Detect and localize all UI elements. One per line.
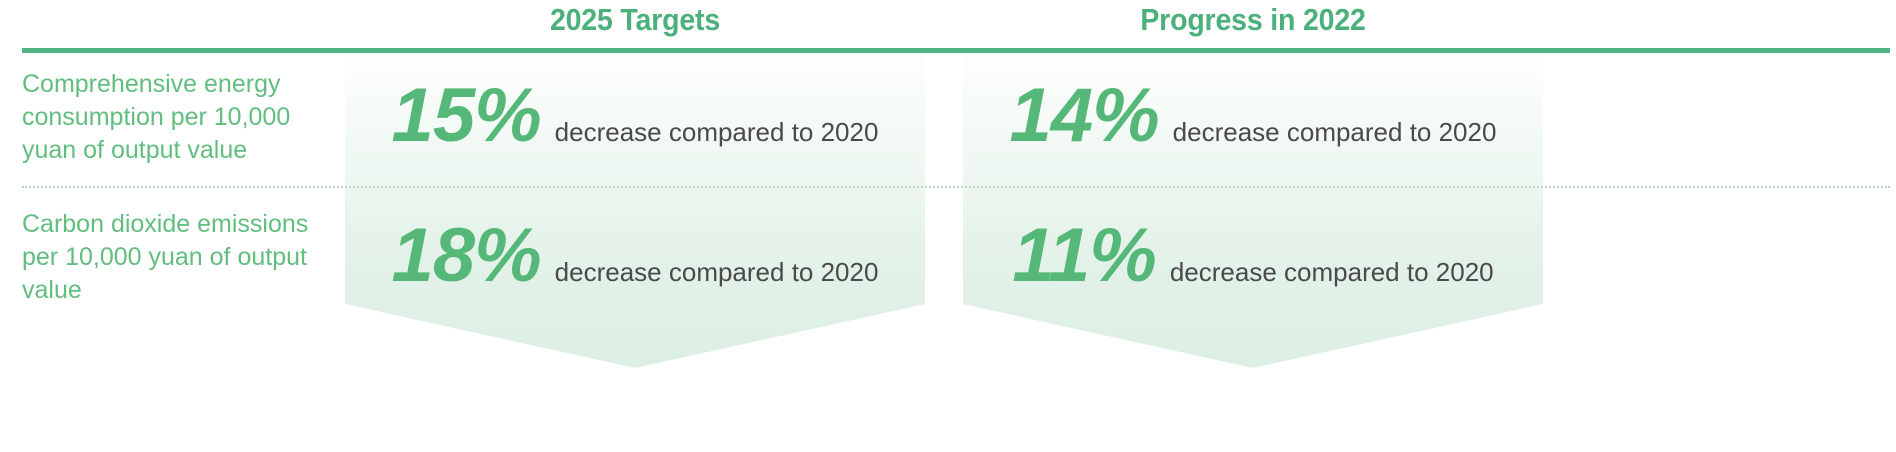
row-label-energy-consumption: Comprehensive energy consumption per 10,… (22, 68, 332, 167)
column-header-progress: Progress in 2022 (986, 0, 1520, 44)
metric-caption: decrease compared to 2020 (1170, 257, 1494, 287)
metric-value: 11% (1012, 218, 1155, 294)
metric-value: 18% (392, 218, 541, 294)
metric-value: 15% (392, 78, 541, 154)
metric-cell-targets-energy: 15% decrease compared to 2020 (345, 78, 925, 178)
column-header-band: 2025 Targets Progress in 2022 (0, 0, 1896, 46)
sustainability-targets-infographic: 2025 Targets Progress in 2022 Comprehens… (0, 0, 1896, 452)
metric-cell-progress-energy: 14% decrease compared to 2020 (963, 78, 1543, 178)
metric-caption: decrease compared to 2020 (555, 117, 879, 147)
metric-cell-targets-carbon: 18% decrease compared to 2020 (345, 218, 925, 318)
metric-row: Comprehensive energy consumption per 10,… (0, 56, 1896, 187)
metric-caption: decrease compared to 2020 (1173, 117, 1497, 147)
header-rule (22, 48, 1890, 53)
metric-value: 14% (1010, 78, 1159, 154)
metric-cell-progress-carbon: 11% decrease compared to 2020 (963, 218, 1543, 318)
row-label-carbon-dioxide: Carbon dioxide emissions per 10,000 yuan… (22, 208, 332, 307)
row-divider (22, 186, 1890, 188)
metric-caption: decrease compared to 2020 (555, 257, 879, 287)
column-header-targets: 2025 Targets (368, 0, 902, 44)
metric-row: Carbon dioxide emissions per 10,000 yuan… (0, 196, 1896, 327)
